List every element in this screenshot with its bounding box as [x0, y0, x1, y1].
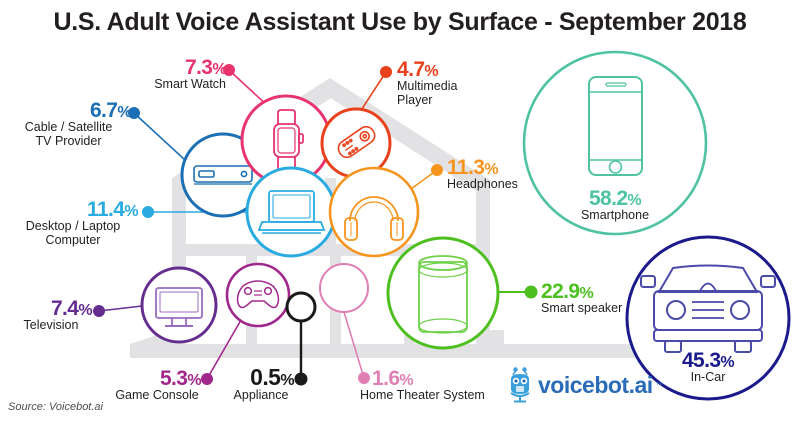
source-note: Source: Voicebot.ai — [8, 401, 103, 413]
voicebot-logo[interactable]: voicebot.ai ™ — [505, 367, 663, 403]
label-multimedia: 4.7% Multimedia Player — [397, 59, 517, 108]
dot-smart-speaker — [525, 286, 538, 299]
dot-multimedia — [380, 66, 392, 78]
dot-television — [93, 305, 105, 317]
icon-circle-home-theater[interactable] — [320, 264, 368, 312]
label-smart-watch: 7.3% Smart Watch — [96, 57, 226, 92]
icon-circle-television[interactable] — [142, 268, 216, 342]
icon-circle-desktop[interactable] — [247, 168, 335, 256]
label-smart-speaker: 22.9% Smart speaker — [541, 281, 661, 316]
icon-circle-appliance[interactable] — [287, 293, 315, 321]
infographic-canvas: U.S. Adult Voice Assistant Use by Surfac… — [0, 0, 800, 423]
label-headphones: 11.3% Headphones — [447, 157, 567, 192]
dot-desktop — [142, 206, 154, 218]
label-game-console: 5.3% Game Console — [113, 368, 201, 403]
dot-game-console — [201, 373, 213, 385]
label-television: 7.4% Television — [10, 298, 92, 333]
logo-trademark: ™ — [656, 382, 663, 389]
label-smartphone: 58.2% Smartphone — [555, 188, 675, 223]
icon-circle-game-console[interactable] — [227, 264, 289, 326]
dot-headphones — [431, 164, 443, 176]
logo-wordmark: voicebot.ai — [538, 372, 653, 399]
robot-microphone-icon — [505, 367, 535, 403]
label-desktop: 11.4% Desktop / Laptop Computer — [8, 199, 138, 248]
label-cable-tv: 6.7% Cable / Satellite TV Provider — [6, 100, 131, 149]
label-in-car: 45.3% In-Car — [648, 350, 768, 385]
icon-circle-smart-speaker[interactable] — [388, 238, 498, 348]
label-home-theater: 1.6% Home Theater System — [372, 368, 512, 403]
label-appliance: 0.5% Appliance — [222, 366, 294, 403]
icon-circle-multimedia[interactable] — [322, 109, 390, 177]
icon-circle-headphones[interactable] — [330, 168, 418, 256]
dot-appliance — [295, 373, 308, 386]
dot-home-theater — [358, 372, 370, 384]
